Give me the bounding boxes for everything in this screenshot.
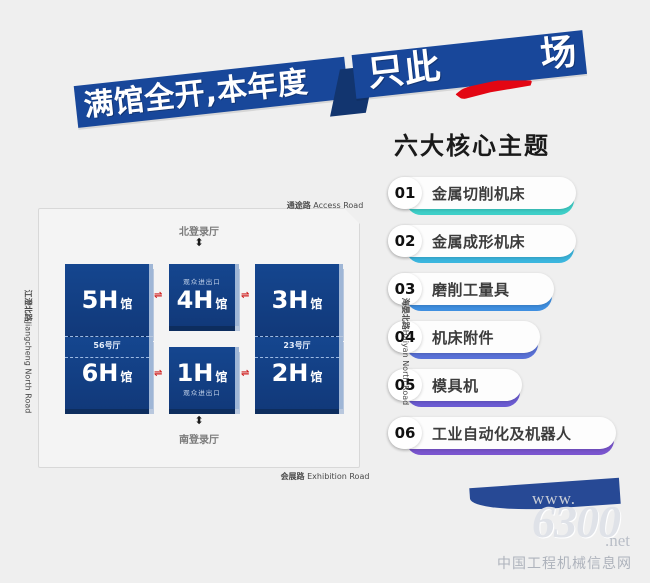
north-entry-arrow-icon: ⬍	[194, 238, 203, 249]
south-entry-arrow-icon: ⬍	[194, 416, 203, 427]
hall-1h-code: 1H	[177, 359, 214, 387]
connector-6h-1h-icon: ⇌	[154, 369, 162, 379]
road-label-left: 江澄北路Jiangcheng North Road	[22, 290, 33, 414]
theme-number-01: 01	[388, 177, 422, 209]
watermark-site-name: 中国工程机械信息网	[497, 553, 632, 573]
hall-6h-name: 6H 馆	[82, 359, 133, 387]
road-label-bottom: 会展路 Exhibition Road	[281, 471, 370, 482]
hall-3h-name: 3H 馆	[272, 286, 323, 314]
hall-1h-unit: 馆	[215, 368, 227, 385]
theme-label-04: 机床附件	[432, 327, 494, 348]
theme-number-06: 06	[388, 417, 422, 449]
theme-label-03: 磨削工量具	[432, 279, 510, 300]
headline-right-post: 场	[538, 31, 579, 76]
theme-label-02: 金属成形机床	[432, 231, 525, 252]
hall-6h-code: 6H	[82, 359, 119, 387]
hall-3h-code: 3H	[272, 286, 309, 314]
road-right-cn: 海晏北路	[401, 298, 410, 330]
hall-5h-name: 5H 馆	[82, 286, 133, 314]
theme-label-06: 工业自动化及机器人	[432, 423, 572, 444]
headline-right-pre: 只此	[366, 46, 443, 95]
hall-3h-unit: 馆	[310, 295, 322, 312]
watermark-tld: .net	[605, 531, 630, 551]
hall-left-divider-bottom	[65, 357, 149, 358]
road-bottom-en: Exhibition Road	[307, 472, 369, 481]
theme-pill-06[interactable]: 06工业自动化及机器人	[388, 417, 616, 449]
hall-left-divider-top	[65, 336, 149, 337]
hall-4h-name: 4H 馆	[177, 286, 228, 314]
venue-floor-map: 北登录厅 ⬍ 5H 馆 6H 馆 56号厅 观众进出口 4H 馆	[38, 208, 360, 468]
theme-row-05[interactable]: 05模具机	[388, 369, 646, 407]
north-entry-hall-label: 北登录厅	[179, 223, 219, 238]
theme-row-04[interactable]: 04机床附件	[388, 321, 646, 359]
road-label-top: 通途路 Access Road	[287, 200, 364, 211]
themes-list: 01金属切削机床02金属成形机床03磨削工量具04机床附件05模具机06工业自动…	[388, 177, 646, 455]
road-top-en: Access Road	[313, 201, 363, 210]
headline-text-left: 满馆全开,本年度	[82, 62, 311, 128]
hall-6h-unit: 馆	[120, 368, 132, 385]
theme-row-02[interactable]: 02金属成形机床	[388, 225, 646, 263]
road-left-cn: 江澄北路	[23, 290, 32, 322]
hall-left-block-tag: 56号厅	[93, 340, 120, 351]
road-top-cn: 通途路	[287, 201, 311, 210]
theme-number-02: 02	[388, 225, 422, 257]
hall-4h-gate-label: 观众进出口	[183, 276, 221, 286]
themes-title: 六大核心主题	[394, 126, 646, 161]
hall-5h-unit: 馆	[120, 295, 132, 312]
hall-5h[interactable]: 5H 馆	[65, 264, 149, 336]
hall-1h[interactable]: 1H 馆 观众进出口	[169, 347, 235, 409]
hall-right-divider-top	[255, 336, 339, 337]
theme-label-05: 模具机	[432, 375, 479, 396]
hall-2h-unit: 馆	[310, 368, 322, 385]
connector-5h-4h-icon: ⇌	[154, 291, 162, 301]
hall-2h-code: 2H	[272, 359, 309, 387]
theme-row-03[interactable]: 03磨削工量具	[388, 273, 646, 311]
theme-pill-02[interactable]: 02金属成形机床	[388, 225, 576, 257]
hall-1h-gate-label: 观众进出口	[183, 387, 221, 397]
site-watermark: www. 6300 .net 中国工程机械信息网	[452, 487, 642, 579]
theme-row-06[interactable]: 06工业自动化及机器人	[388, 417, 646, 455]
hall-5h-code: 5H	[82, 286, 119, 314]
hall-right-block-tag: 23号厅	[283, 340, 310, 351]
road-right-en: Haiyan North Road	[401, 330, 410, 405]
core-themes-panel: 六大核心主题 01金属切削机床02金属成形机床03磨削工量具04机床附件05模具…	[388, 126, 646, 465]
headline-banner: 满馆全开,本年度 只此一场	[0, 24, 650, 134]
road-bottom-cn: 会展路	[281, 472, 305, 481]
hall-4h-code: 4H	[177, 286, 214, 314]
theme-pill-03[interactable]: 03磨削工量具	[388, 273, 554, 305]
hall-1h-name: 1H 馆	[177, 359, 228, 387]
hall-right-divider-bottom	[255, 357, 339, 358]
hall-3h[interactable]: 3H 馆	[255, 264, 339, 336]
hall-4h[interactable]: 观众进出口 4H 馆	[169, 264, 235, 326]
road-label-right: 海晏北路Haiyan North Road	[400, 298, 411, 405]
hall-4h-unit: 馆	[215, 295, 227, 312]
theme-pill-01[interactable]: 01金属切削机床	[388, 177, 576, 209]
connector-4h-3h-icon: ⇌	[241, 291, 249, 301]
south-entry-hall-label: 南登录厅	[179, 431, 219, 446]
theme-label-01: 金属切削机床	[432, 183, 525, 204]
poster-canvas: 满馆全开,本年度 只此一场 六大核心主题 01金属切削机床02金属成形机床03磨…	[0, 0, 650, 583]
road-left-en: Jiangcheng North Road	[23, 322, 32, 414]
theme-row-01[interactable]: 01金属切削机床	[388, 177, 646, 215]
connector-1h-2h-icon: ⇌	[241, 369, 249, 379]
hall-2h-name: 2H 馆	[272, 359, 323, 387]
